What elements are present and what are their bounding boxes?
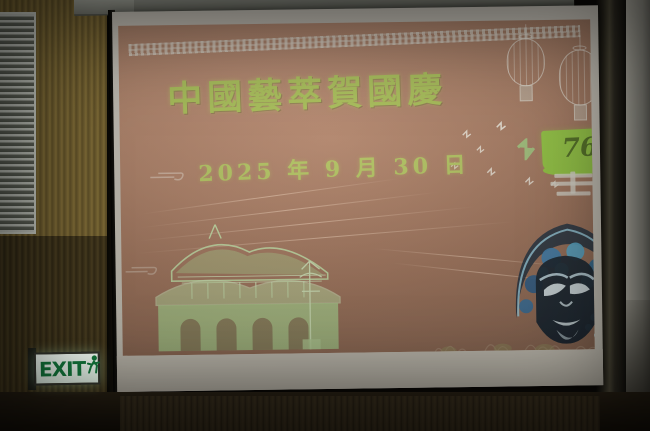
dove-icon bbox=[524, 176, 534, 186]
slide-title: 中國藝萃賀國慶 bbox=[166, 58, 528, 122]
lantern-tassel bbox=[574, 104, 587, 120]
lantern-body bbox=[559, 49, 595, 106]
running-man-icon bbox=[86, 354, 101, 381]
exit-sign-label: EXIT bbox=[39, 358, 86, 379]
tiananmen-glyph-icon bbox=[550, 171, 594, 202]
exit-sign: EXIT bbox=[34, 351, 101, 385]
screenshot-stage: 中國藝萃賀國慶 2025 年 9 月 30 日 76 bbox=[0, 0, 650, 431]
projection-screen: 中國藝萃賀國慶 2025 年 9 月 30 日 76 bbox=[112, 5, 603, 392]
floor-wall-slats bbox=[120, 396, 600, 431]
dove-icon bbox=[496, 121, 507, 132]
tiananmen-gate-illustration bbox=[131, 211, 363, 354]
presentation-slide: 中國藝萃賀國慶 2025 年 9 月 30 日 76 bbox=[118, 19, 595, 356]
anniversary-flag: 76 bbox=[541, 128, 595, 171]
slide-date: 2025 年 9 月 30 日 bbox=[198, 145, 529, 188]
air-vent-grille bbox=[0, 12, 36, 234]
dove-icon bbox=[462, 129, 472, 139]
cloud-motif-icon bbox=[148, 167, 188, 182]
anniversary-number: 76 bbox=[561, 132, 595, 164]
screen-blank-area bbox=[117, 349, 603, 392]
lantern-right bbox=[559, 49, 595, 106]
